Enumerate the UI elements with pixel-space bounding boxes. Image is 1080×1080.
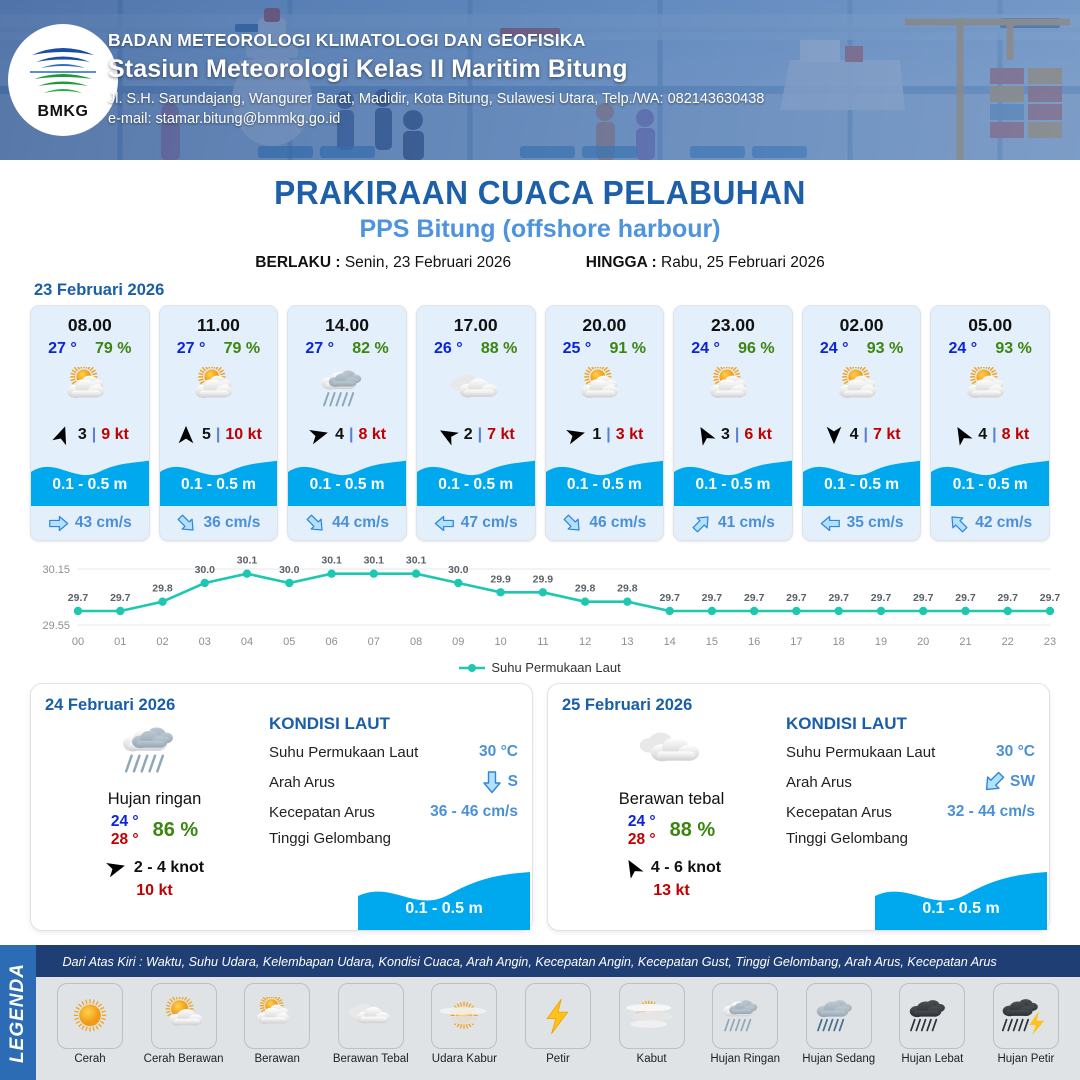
legend-item: Kabut (606, 983, 698, 1065)
svg-text:10: 10 (494, 636, 506, 648)
page-header: BMKG BADAN METEOROLOGI KLIMATOLOGI DAN G… (0, 0, 1080, 160)
bmkg-logo-text: BMKG (38, 103, 89, 121)
panel-weather-icon (47, 720, 262, 782)
page-subtitle: PPS Bitung (offshore harbour) (0, 215, 1080, 244)
card-time: 11.00 (160, 306, 278, 336)
bmkg-logo-mark (24, 39, 102, 101)
legend-item: Hujan Petir (980, 983, 1072, 1065)
card-current-speed: 41 cm/s (718, 514, 775, 532)
card-humidity: 79 % (224, 340, 260, 358)
svg-text:05: 05 (283, 636, 295, 648)
card-wave: 0.1 - 0.5 m (931, 450, 1049, 506)
card-current-row: 43 cm/s (31, 506, 149, 540)
svg-text:03: 03 (199, 636, 211, 648)
panel-row: Tinggi Gelombang (786, 830, 1035, 847)
card-temperature: 26 ° (434, 340, 463, 358)
forecast-card: 05.00 24 ° 93 % 4 | 8 kt (930, 305, 1050, 541)
panel-wave: 0.1 - 0.5 m (875, 870, 1047, 930)
svg-text:29.7: 29.7 (110, 592, 131, 604)
card-wind-row: 4 | 7 kt (803, 418, 921, 452)
svg-text:30.1: 30.1 (237, 555, 258, 567)
hourly-forecast-cards: 08.00 27 ° 79 % 3 | 9 kt (0, 305, 1080, 541)
svg-text:21: 21 (959, 636, 971, 648)
svg-text:01: 01 (114, 636, 126, 648)
panel-condition: Hujan ringan (47, 790, 262, 809)
svg-text:29.7: 29.7 (913, 592, 934, 604)
svg-text:17: 17 (790, 636, 802, 648)
legend-item-icon (525, 983, 591, 1049)
panel-current-direction: SW (982, 770, 1035, 794)
card-weather-icon (546, 360, 664, 418)
svg-text:29.7: 29.7 (744, 592, 765, 604)
card-weather-icon (160, 360, 278, 418)
current-direction-arrow (434, 513, 455, 534)
legend-item-label: Hujan Sedang (793, 1053, 885, 1065)
legend-item-icon (619, 983, 685, 1049)
card-wind-speed: 4 (978, 426, 987, 444)
card-wind-separator: | (216, 426, 220, 444)
panel-wave-height: 0.1 - 0.5 m (875, 900, 1047, 918)
berlaku-value: Senin, 23 Februari 2026 (345, 254, 511, 271)
validity-row: BERLAKU : Senin, 23 Februari 2026 HINGGA… (0, 254, 1080, 272)
panel-row-value: 36 - 46 cm/s (430, 803, 518, 821)
svg-text:14: 14 (664, 636, 676, 648)
svg-text:29.8: 29.8 (575, 583, 596, 595)
legend-item: Petir (512, 983, 604, 1065)
card-humidity: 82 % (352, 340, 388, 358)
forecast-card: 11.00 27 ° 79 % 5 | 10 kt (159, 305, 279, 541)
panel-humidity: 86 % (153, 819, 199, 842)
card-gust: 3 kt (616, 426, 644, 444)
card-wind-separator: | (606, 426, 610, 444)
card-wave-height: 0.1 - 0.5 m (288, 476, 406, 494)
wind-direction-arrow (175, 424, 197, 446)
card-wind-speed: 4 (850, 426, 859, 444)
card-humidity: 93 % (867, 340, 903, 358)
card-humidity: 96 % (738, 340, 774, 358)
current-direction-arrow (305, 513, 326, 534)
card-time: 08.00 (31, 306, 149, 336)
svg-text:29.7: 29.7 (786, 592, 807, 604)
legend-sidebar: LEGENDA (0, 945, 36, 1080)
forecast-card: 20.00 25 ° 91 % 1 | 3 kt (545, 305, 665, 541)
card-weather-icon (417, 360, 535, 418)
panel-row: Suhu Permukaan Laut30 °C (786, 743, 1035, 761)
panel-sea-title: KONDISI LAUT (269, 714, 518, 734)
current-direction-arrow (982, 770, 1006, 794)
card-wind-row: 5 | 10 kt (160, 418, 278, 452)
card-wind-separator: | (349, 426, 353, 444)
legend-item-label: Hujan Lebat (886, 1053, 978, 1065)
card-temperature: 27 ° (48, 340, 77, 358)
chart-legend-label: Suhu Permukaan Laut (491, 660, 620, 675)
panel-left-block: Berawan tebal 24 ° 28 ° 88 % 4 - 6 knot … (564, 720, 779, 900)
card-time: 05.00 (931, 306, 1049, 336)
svg-text:29.7: 29.7 (1040, 592, 1060, 604)
panel-row-value: 30 °C (996, 743, 1035, 761)
header-text-block: BADAN METEOROLOGI KLIMATOLOGI DAN GEOFIS… (108, 30, 764, 127)
panel-row: Suhu Permukaan Laut30 °C (269, 743, 518, 761)
forecast-card: 23.00 24 ° 96 % 3 | 6 kt (673, 305, 793, 541)
legend-item: Udara Kabur (418, 983, 510, 1065)
legend-item-label: Hujan Petir (980, 1053, 1072, 1065)
card-temperature: 27 ° (305, 340, 334, 358)
card-current-speed: 46 cm/s (589, 514, 646, 532)
panel-row-label: Suhu Permukaan Laut (269, 744, 418, 761)
panel-row-label: Arah Arus (786, 774, 852, 791)
current-direction-arrow (820, 513, 841, 534)
legend-item-icon (899, 983, 965, 1049)
panel-wind-row: 2 - 4 knot (47, 857, 262, 879)
card-wave-height: 0.1 - 0.5 m (546, 476, 664, 494)
card-wave: 0.1 - 0.5 m (803, 450, 921, 506)
wind-direction-arrow (694, 424, 716, 446)
card-current-row: 36 cm/s (160, 506, 278, 540)
card-current-row: 35 cm/s (803, 506, 921, 540)
forecast-card: 08.00 27 ° 79 % 3 | 9 kt (30, 305, 150, 541)
legend-item-icon (712, 983, 778, 1049)
card-wind-speed: 5 (202, 426, 211, 444)
card-wave-height: 0.1 - 0.5 m (160, 476, 278, 494)
card-wave: 0.1 - 0.5 m (546, 450, 664, 506)
legend-item: Cerah (44, 983, 136, 1065)
card-wind-speed: 4 (335, 426, 344, 444)
card-wave-height: 0.1 - 0.5 m (803, 476, 921, 494)
card-gust: 8 kt (358, 426, 386, 444)
svg-text:20: 20 (917, 636, 929, 648)
svg-text:19: 19 (875, 636, 887, 648)
card-weather-icon (803, 360, 921, 418)
legend-item-label: Berawan (231, 1053, 323, 1065)
wind-direction-arrow (823, 424, 845, 446)
legend-item-icon (244, 983, 310, 1049)
panel-row-label: Tinggi Gelombang (269, 830, 391, 847)
svg-text:29.7: 29.7 (702, 592, 723, 604)
panel-sea-conditions: KONDISI LAUT Suhu Permukaan Laut30 °C Ar… (269, 714, 518, 847)
card-wind-row: 3 | 6 kt (674, 418, 792, 452)
legend-item: Hujan Ringan (699, 983, 791, 1065)
wind-direction-arrow (51, 424, 73, 446)
legend-item-icon (806, 983, 872, 1049)
panel-row: Kecepatan Arus32 - 44 cm/s (786, 803, 1035, 821)
panel-wind-range: 4 - 6 knot (651, 859, 721, 877)
card-wind-separator: | (863, 426, 867, 444)
svg-text:30.15: 30.15 (42, 564, 70, 576)
svg-text:08: 08 (410, 636, 422, 648)
daily-panel: 24 Februari 2026 Hujan ringan 24 ° (30, 683, 533, 931)
wind-direction-arrow (308, 424, 330, 446)
card-humidity: 91 % (610, 340, 646, 358)
card-wind-speed: 3 (721, 426, 730, 444)
panel-row-value: SW (1010, 773, 1035, 791)
svg-text:04: 04 (241, 636, 253, 648)
panel-left-block: Hujan ringan 24 ° 28 ° 86 % 2 - 4 knot 1… (47, 720, 262, 900)
svg-text:18: 18 (833, 636, 845, 648)
svg-text:22: 22 (1002, 636, 1014, 648)
panel-row-label: Tinggi Gelombang (786, 830, 908, 847)
current-direction-arrow (948, 513, 969, 534)
panel-wind-row: 4 - 6 knot (564, 857, 779, 879)
panel-row: Arah Arus S (269, 770, 518, 794)
svg-text:30.0: 30.0 (195, 564, 216, 576)
card-humidity: 93 % (995, 340, 1031, 358)
panel-current-direction: S (480, 770, 518, 794)
card-wind-speed: 3 (78, 426, 87, 444)
card-current-row: 46 cm/s (546, 506, 664, 540)
svg-text:29.7: 29.7 (871, 592, 892, 604)
station-name: Stasiun Meteorologi Kelas II Maritim Bit… (108, 55, 764, 84)
svg-text:16: 16 (748, 636, 760, 648)
legend-item: Hujan Sedang (793, 983, 885, 1065)
card-wind-speed: 2 (464, 426, 473, 444)
svg-text:29.8: 29.8 (617, 583, 638, 595)
forecast-card: 02.00 24 ° 93 % 4 | 7 kt (802, 305, 922, 541)
svg-text:30.0: 30.0 (448, 564, 469, 576)
card-gust: 9 kt (101, 426, 129, 444)
card-gust: 8 kt (1002, 426, 1030, 444)
legend-section: LEGENDA Dari Atas Kiri : Waktu, Suhu Uda… (0, 945, 1080, 1080)
panel-row-value: 32 - 44 cm/s (947, 803, 1035, 821)
svg-text:02: 02 (156, 636, 168, 648)
svg-text:30.1: 30.1 (321, 555, 342, 567)
card-current-row: 47 cm/s (417, 506, 535, 540)
svg-text:23: 23 (1044, 636, 1056, 648)
panel-gust: 13 kt (564, 882, 779, 900)
card-wind-row: 4 | 8 kt (931, 418, 1049, 452)
panel-row: Tinggi Gelombang (269, 830, 518, 847)
svg-text:29.7: 29.7 (997, 592, 1018, 604)
current-direction-arrow (691, 513, 712, 534)
panel-wind-range: 2 - 4 knot (134, 859, 204, 877)
card-weather-icon (674, 360, 792, 418)
card-wave-height: 0.1 - 0.5 m (417, 476, 535, 494)
panel-weather-icon (564, 720, 779, 782)
page-title: PRAKIRAAN CUACA PELABUHAN (22, 174, 1059, 212)
panel-sea-conditions: KONDISI LAUT Suhu Permukaan Laut30 °C Ar… (786, 714, 1035, 847)
card-humidity: 88 % (481, 340, 517, 358)
svg-text:29.7: 29.7 (828, 592, 849, 604)
card-current-speed: 36 cm/s (203, 514, 260, 532)
card-wind-speed: 1 (592, 426, 601, 444)
wind-direction-arrow (622, 857, 644, 879)
current-direction-arrow (48, 513, 69, 534)
panel-temp-min: 24 ° (111, 813, 139, 831)
legend-items: Cerah Cerah Berawan (36, 977, 1080, 1080)
station-email: e-mail: stamar.bitung@bmmkg.go.id (108, 111, 764, 127)
panel-row-label: Kecepatan Arus (786, 804, 892, 821)
svg-text:29.9: 29.9 (490, 573, 511, 585)
card-weather-icon (31, 360, 149, 418)
panel-temp-max: 28 ° (628, 831, 656, 849)
card-temperature: 24 ° (691, 340, 720, 358)
panel-sea-title: KONDISI LAUT (786, 714, 1035, 734)
station-address: Jl. S.H. Sarundajang, Wangurer Barat, Ma… (108, 91, 764, 107)
panel-wave: 0.1 - 0.5 m (358, 870, 530, 930)
svg-text:12: 12 (579, 636, 591, 648)
card-time: 23.00 (674, 306, 792, 336)
card-wave: 0.1 - 0.5 m (674, 450, 792, 506)
legend-item-icon (151, 983, 217, 1049)
card-temperature: 27 ° (177, 340, 206, 358)
card-gust: 7 kt (487, 426, 515, 444)
svg-text:07: 07 (368, 636, 380, 648)
bmkg-logo: BMKG (8, 24, 118, 136)
card-wave-height: 0.1 - 0.5 m (931, 476, 1049, 494)
card-wind-row: 4 | 8 kt (288, 418, 406, 452)
legend-item-label: Cerah Berawan (138, 1053, 230, 1065)
svg-text:13: 13 (621, 636, 633, 648)
card-wave: 0.1 - 0.5 m (417, 450, 535, 506)
card-wind-separator: | (92, 426, 96, 444)
panel-date: 25 Februari 2026 (562, 696, 1035, 715)
wind-direction-arrow (565, 424, 587, 446)
card-humidity: 79 % (95, 340, 131, 358)
card-gust: 7 kt (873, 426, 901, 444)
current-direction-arrow (562, 513, 583, 534)
daily-forecast-panels: 24 Februari 2026 Hujan ringan 24 ° (0, 675, 1080, 931)
panel-humidity: 88 % (670, 819, 716, 842)
forecast-card: 17.00 26 ° 88 % 2 | 7 kt (416, 305, 536, 541)
panel-wave-height: 0.1 - 0.5 m (358, 900, 530, 918)
wind-direction-arrow (105, 857, 127, 879)
card-temperature: 24 ° (949, 340, 978, 358)
legend-item-label: Petir (512, 1053, 604, 1065)
svg-text:30.1: 30.1 (364, 555, 385, 567)
legend-item-label: Hujan Ringan (699, 1053, 791, 1065)
panel-temp-min: 24 ° (628, 813, 656, 831)
card-current-row: 44 cm/s (288, 506, 406, 540)
card-temperature: 24 ° (820, 340, 849, 358)
legend-item-label: Cerah (44, 1053, 136, 1065)
card-wind-separator: | (478, 426, 482, 444)
card-current-speed: 42 cm/s (975, 514, 1032, 532)
wind-direction-arrow (437, 424, 459, 446)
card-current-row: 41 cm/s (674, 506, 792, 540)
panel-temp-max: 28 ° (111, 831, 139, 849)
sst-chart-svg: 30.1529.5529.70029.70129.80230.00330.104… (20, 553, 1060, 658)
panel-row: Arah Arus SW (786, 770, 1035, 794)
card-wave-height: 0.1 - 0.5 m (31, 476, 149, 494)
panel-row: Kecepatan Arus36 - 46 cm/s (269, 803, 518, 821)
panel-row-value: 30 °C (479, 743, 518, 761)
svg-text:29.9: 29.9 (533, 573, 554, 585)
legend-item: Berawan Tebal (325, 983, 417, 1065)
legend-item-label: Kabut (606, 1053, 698, 1065)
svg-text:06: 06 (325, 636, 337, 648)
card-current-speed: 35 cm/s (847, 514, 904, 532)
svg-text:30.1: 30.1 (406, 555, 427, 567)
card-wave-height: 0.1 - 0.5 m (674, 476, 792, 494)
hingga-label: HINGGA : (586, 254, 657, 271)
svg-text:09: 09 (452, 636, 464, 648)
card-weather-icon (931, 360, 1049, 418)
legend-item-label: Udara Kabur (418, 1053, 510, 1065)
card-wave: 0.1 - 0.5 m (160, 450, 278, 506)
svg-text:29.7: 29.7 (955, 592, 976, 604)
agency-name: BADAN METEOROLOGI KLIMATOLOGI DAN GEOFIS… (108, 30, 764, 51)
berlaku-label: BERLAKU : (255, 254, 340, 271)
svg-text:29.8: 29.8 (152, 583, 173, 595)
daily-panel: 25 Februari 2026 Berawan tebal 24 ° 28 ° (547, 683, 1050, 931)
card-time: 20.00 (546, 306, 664, 336)
legend-note-bar: Dari Atas Kiri : Waktu, Suhu Udara, Kele… (36, 945, 1080, 977)
card-wind-row: 2 | 7 kt (417, 418, 535, 452)
svg-text:15: 15 (706, 636, 718, 648)
card-current-speed: 44 cm/s (332, 514, 389, 532)
legend-item-icon (431, 983, 497, 1049)
card-wave: 0.1 - 0.5 m (31, 450, 149, 506)
card-current-speed: 43 cm/s (75, 514, 132, 532)
legend-item-icon (57, 983, 123, 1049)
legend-item-label: Berawan Tebal (325, 1053, 417, 1065)
card-wind-separator: | (735, 426, 739, 444)
card-gust: 6 kt (744, 426, 772, 444)
card-time: 14.00 (288, 306, 406, 336)
svg-text:11: 11 (537, 636, 548, 648)
panel-temps: 24 ° 28 ° (111, 813, 139, 849)
card-temperature: 25 ° (563, 340, 592, 358)
panel-condition: Berawan tebal (564, 790, 779, 809)
legend-item-icon (993, 983, 1059, 1049)
svg-text:29.7: 29.7 (659, 592, 680, 604)
panel-gust: 10 kt (47, 882, 262, 900)
panel-row-label: Arah Arus (269, 774, 335, 791)
current-direction-arrow (480, 770, 504, 794)
legend-item: Hujan Lebat (886, 983, 978, 1065)
hingga-value: Rabu, 25 Februari 2026 (661, 254, 825, 271)
current-direction-arrow (176, 513, 197, 534)
day-label: 23 Februari 2026 (34, 281, 1080, 300)
legend-item: Berawan (231, 983, 323, 1065)
svg-text:00: 00 (72, 636, 84, 648)
svg-text:30.0: 30.0 (279, 564, 300, 576)
sst-chart: 30.1529.5529.70029.70129.80230.00330.104… (0, 553, 1080, 658)
card-wind-row: 1 | 3 kt (546, 418, 664, 452)
svg-text:29.7: 29.7 (68, 592, 89, 604)
card-wind-row: 3 | 9 kt (31, 418, 149, 452)
legend-item: Cerah Berawan (138, 983, 230, 1065)
panel-row-label: Kecepatan Arus (269, 804, 375, 821)
card-gust: 10 kt (225, 426, 261, 444)
card-weather-icon (288, 360, 406, 418)
card-wave: 0.1 - 0.5 m (288, 450, 406, 506)
chart-legend-marker (459, 662, 485, 674)
legend-note: Dari Atas Kiri : Waktu, Suhu Udara, Kele… (62, 954, 996, 969)
panel-date: 24 Februari 2026 (45, 696, 518, 715)
legend-sidebar-label: LEGENDA (7, 963, 29, 1063)
panel-row-value: S (508, 773, 518, 791)
svg-text:29.55: 29.55 (42, 620, 70, 632)
panel-row-label: Suhu Permukaan Laut (786, 744, 935, 761)
chart-legend: Suhu Permukaan Laut (0, 660, 1080, 675)
card-current-row: 42 cm/s (931, 506, 1049, 540)
card-time: 17.00 (417, 306, 535, 336)
panel-temps: 24 ° 28 ° (628, 813, 656, 849)
card-time: 02.00 (803, 306, 921, 336)
card-current-speed: 47 cm/s (461, 514, 518, 532)
legend-item-icon (338, 983, 404, 1049)
wind-direction-arrow (951, 424, 973, 446)
card-wind-separator: | (992, 426, 996, 444)
forecast-card: 14.00 27 ° 82 % (287, 305, 407, 541)
forecast-title-block: PRAKIRAAN CUACA PELABUHAN PPS Bitung (of… (0, 160, 1080, 272)
